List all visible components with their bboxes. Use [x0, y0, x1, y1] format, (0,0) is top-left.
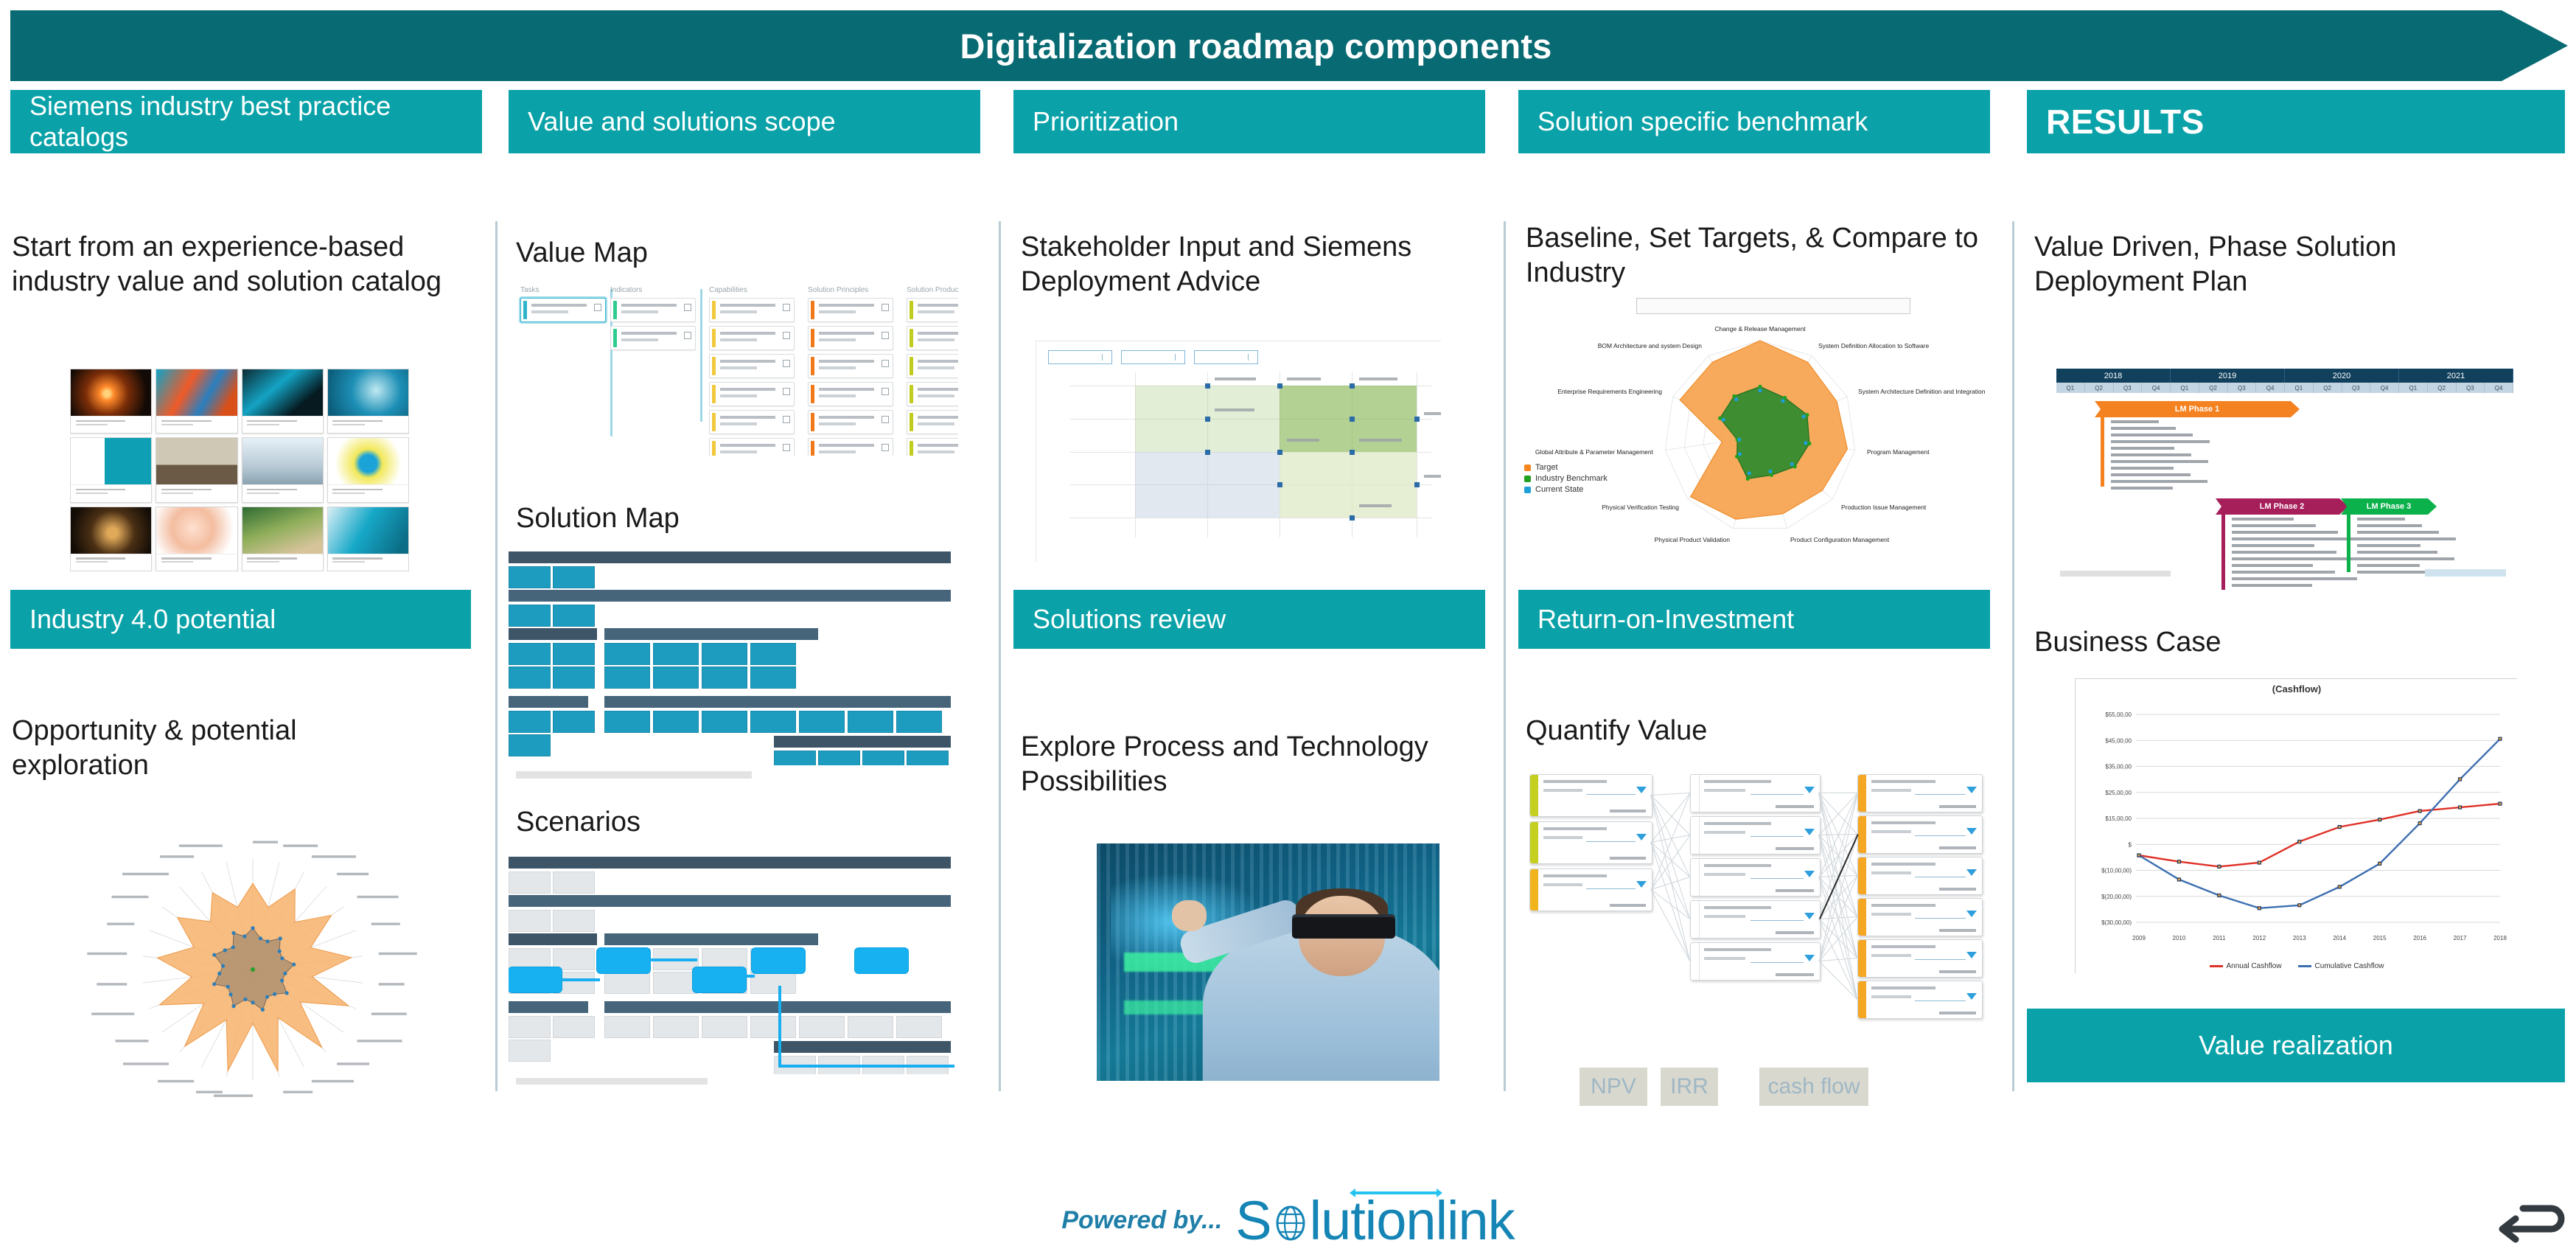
- band-label: Siemens industry best practice catalogs: [29, 91, 463, 153]
- column-divider-1: [495, 221, 498, 1091]
- band-solution-specific-benchmark[interactable]: Solution specific benchmark: [1518, 90, 1990, 153]
- map-group-header: [509, 628, 597, 640]
- timeline-quarter: Q1: [2399, 383, 2428, 393]
- map-tile[interactable]: [604, 643, 650, 665]
- svg-text:2013: 2013: [2293, 935, 2306, 941]
- value-map-divider: [700, 289, 702, 422]
- kpi-cash-flow-tile[interactable]: cash flow: [1759, 1068, 1868, 1106]
- value-map-column[interactable]: Capabilities: [709, 286, 795, 456]
- data-point-label: [1424, 475, 1441, 478]
- legend-label: Current State: [1535, 485, 1583, 494]
- roi-connector: [1651, 793, 1690, 796]
- benchmark-toolbar[interactable]: [1636, 298, 1910, 314]
- timeline-item: [2111, 447, 2174, 450]
- svg-text:2014: 2014: [2333, 935, 2346, 941]
- roi-node[interactable]: [1857, 939, 1983, 978]
- svg-text:2016: 2016: [2413, 935, 2426, 941]
- value-map-board[interactable]: TasksIndicatorsCapabilitiesSolution Prin…: [516, 286, 958, 456]
- timeline-quarter: Q1: [2056, 383, 2085, 393]
- legend-swatch: [2298, 965, 2311, 967]
- svg-text:2017: 2017: [2454, 935, 2467, 941]
- headline-explore-process: Explore Process and Technology Possibili…: [1021, 730, 1463, 799]
- band-label: Solutions review: [1033, 604, 1226, 635]
- roi-value-node-map[interactable]: [1529, 774, 2005, 1062]
- headline-experience-catalog: Start from an experience-based industry …: [12, 230, 454, 299]
- timeline-footnote: [2060, 571, 2171, 577]
- svg-text:2015: 2015: [2373, 935, 2387, 941]
- data-point-label: [1287, 439, 1319, 442]
- map-tile[interactable]: [653, 643, 699, 665]
- svg-text:2009: 2009: [2132, 935, 2146, 941]
- map-connector: [719, 975, 755, 978]
- value-map-column[interactable]: Solution Principles: [808, 286, 893, 456]
- footer-powered-by: Powered by... S lutionlink: [0, 1185, 2576, 1256]
- data-point[interactable]: [1277, 482, 1282, 487]
- band-prioritization[interactable]: Prioritization: [1013, 90, 1485, 153]
- legend-label: Target: [1535, 463, 1558, 472]
- map-tile[interactable]: [509, 734, 551, 756]
- timeline-phase-bar[interactable]: LM Phase 1: [2095, 401, 2300, 417]
- map-tile[interactable]: [750, 972, 796, 994]
- band-return-on-investment[interactable]: Return-on-Investment: [1518, 590, 1990, 649]
- map-group-header: [509, 590, 951, 602]
- map-tile[interactable]: [750, 1016, 796, 1038]
- map-tile[interactable]: [553, 666, 595, 689]
- band-siemens-catalogs[interactable]: Siemens industry best practice catalogs: [10, 90, 482, 153]
- svg-text:2018: 2018: [2493, 935, 2507, 941]
- map-tile[interactable]: [604, 711, 650, 733]
- filter-icon[interactable]: [1966, 952, 1977, 958]
- section-title-business-case: Business Case: [2034, 625, 2403, 660]
- timeline-quarter: Q2: [2428, 383, 2457, 393]
- filter-icon[interactable]: [1804, 955, 1815, 961]
- svg-text:$25,00,00: $25,00,00: [2105, 790, 2132, 796]
- headline-deployment-plan: Value Driven, Phase Solution Deployment …: [2034, 230, 2491, 299]
- timeline-phase-items: [2357, 518, 2457, 577]
- value-map-card[interactable]: [808, 410, 893, 434]
- value-map-card[interactable]: [907, 354, 958, 378]
- section-title-value-map: Value Map: [516, 236, 884, 271]
- timeline-item: [2357, 518, 2405, 521]
- brand-prefix: S: [1235, 1189, 1271, 1252]
- data-point-label: [1215, 408, 1254, 411]
- map-tile[interactable]: [702, 666, 747, 689]
- industry-catalog-thumbnail-grid[interactable]: [70, 369, 409, 571]
- timeline-phase-items: [2111, 420, 2210, 493]
- map-tile[interactable]: [509, 666, 551, 689]
- catalog-card[interactable]: [242, 369, 324, 434]
- roi-node[interactable]: [1529, 821, 1652, 864]
- data-point-label: [1424, 412, 1441, 415]
- map-tile[interactable]: [818, 751, 860, 765]
- catalog-card[interactable]: [327, 437, 409, 502]
- svg-text:Product Configuration Manageme: Product Configuration Management: [1790, 536, 1890, 543]
- legend-label: Industry Benchmark: [1535, 474, 1608, 483]
- timeline-item: [2111, 453, 2191, 456]
- legend-item: Industry Benchmark: [1524, 474, 1608, 483]
- value-map-column-header: Tasks: [520, 286, 606, 294]
- roi-node[interactable]: [1529, 774, 1652, 817]
- catalog-card[interactable]: [327, 369, 409, 434]
- map-tile[interactable]: [553, 566, 595, 588]
- map-tile[interactable]: [896, 1016, 942, 1038]
- map-tile[interactable]: [848, 711, 893, 733]
- timeline-phase-bar[interactable]: LM Phase 2: [2216, 498, 2348, 515]
- roadmap-title-banner: Digitalization roadmap components: [10, 10, 2568, 81]
- timeline-item: [2357, 524, 2422, 527]
- band-label: Solution specific benchmark: [1537, 106, 1868, 137]
- value-map-card[interactable]: [907, 438, 958, 456]
- map-tile[interactable]: [799, 711, 845, 733]
- roi-node[interactable]: [1529, 869, 1652, 911]
- solution-map-diagram[interactable]: [509, 551, 954, 765]
- prioritization-bubble-chart[interactable]: [1036, 341, 1441, 562]
- powered-by-label: Powered by...: [1061, 1206, 1222, 1235]
- map-tile[interactable]: [653, 666, 699, 689]
- map-connector: [778, 986, 781, 1067]
- filter-icon[interactable]: [1636, 834, 1647, 840]
- filter-icon[interactable]: [1966, 911, 1977, 917]
- timeline-year: 2019: [2171, 369, 2285, 383]
- value-map-card[interactable]: [907, 382, 958, 406]
- map-tile[interactable]: [750, 643, 796, 665]
- map-tile[interactable]: [509, 910, 551, 932]
- filter-icon[interactable]: [1804, 787, 1815, 793]
- timeline-item: [2357, 537, 2456, 540]
- band-solutions-review[interactable]: Solutions review: [1013, 590, 1485, 649]
- svg-text:BOM Architecture and system De: BOM Architecture and system Design: [1598, 342, 1703, 349]
- chevron-down-icon: [1175, 354, 1182, 361]
- quadrant-region: [1280, 452, 1417, 518]
- map-tile[interactable]: [896, 711, 942, 733]
- headline-quantify-value: Quantify Value: [1526, 714, 1894, 748]
- filter-icon[interactable]: [1804, 913, 1815, 919]
- value-map-card[interactable]: [709, 354, 795, 378]
- timeline-item: [2357, 551, 2437, 554]
- data-point-label: [1359, 377, 1397, 380]
- filter-icon[interactable]: [1966, 993, 1977, 1000]
- value-map-card[interactable]: [709, 326, 795, 350]
- timeline-item: [2357, 564, 2420, 567]
- map-tile[interactable]: [702, 1016, 747, 1038]
- map-group-header: [604, 1001, 951, 1013]
- data-point[interactable]: [1350, 417, 1355, 422]
- svg-text:$(20,00,00): $(20,00,00): [2101, 894, 2132, 900]
- data-point[interactable]: [1277, 450, 1282, 455]
- timeline-item: [2232, 531, 2338, 534]
- band-value-solutions-scope[interactable]: Value and solutions scope: [509, 90, 980, 153]
- headline-stakeholder-input: Stakeholder Input and Siemens Deployment…: [1021, 230, 1478, 299]
- value-map-column-header: Indicators: [610, 286, 696, 294]
- timeline-year: 2018: [2056, 369, 2171, 383]
- timeline-quarter: Q4: [2370, 383, 2399, 393]
- scenarios-diagram[interactable]: [509, 857, 954, 1074]
- catalog-card[interactable]: [156, 437, 237, 502]
- timeline-item: [2357, 544, 2420, 547]
- svg-text:System Definition Allocation t: System Definition Allocation to Software: [1818, 342, 1930, 349]
- value-map-card[interactable]: [520, 298, 606, 322]
- highlighted-map-tile[interactable]: [693, 967, 746, 992]
- timeline-quarter: Q3: [2457, 383, 2485, 393]
- band-label: Industry 4.0 potential: [29, 604, 276, 635]
- map-tile[interactable]: [509, 1016, 551, 1038]
- quadrant-region: [1280, 386, 1417, 452]
- section-title-scenarios: Scenarios: [516, 805, 884, 840]
- map-tile[interactable]: [604, 666, 650, 689]
- map-group-header: [509, 551, 951, 563]
- value-map-column[interactable]: Tasks: [520, 286, 606, 456]
- filter-icon[interactable]: [1966, 828, 1977, 835]
- data-point-label: [1287, 377, 1321, 380]
- map-tile[interactable]: [653, 1016, 699, 1038]
- band-label: RESULTS: [2046, 102, 2205, 142]
- catalog-card[interactable]: [156, 507, 237, 571]
- timeline-item: [2111, 480, 2207, 483]
- phased-deployment-timeline[interactable]: 2018201920202021Q1Q2Q3Q4Q1Q2Q3Q4Q1Q2Q3Q4…: [2056, 369, 2513, 590]
- filter-dropdown[interactable]: [1194, 350, 1258, 364]
- map-group-header: [774, 1041, 951, 1053]
- svg-text:$15,00,00: $15,00,00: [2105, 815, 2132, 822]
- timeline-item: [2111, 440, 2210, 443]
- value-map-card[interactable]: [907, 410, 958, 434]
- map-tile[interactable]: [848, 1016, 893, 1038]
- highlighted-map-tile[interactable]: [855, 948, 908, 973]
- timeline-item: [2357, 531, 2439, 534]
- svg-text:Change & Release Management: Change & Release Management: [1714, 325, 1806, 333]
- data-point[interactable]: [1205, 417, 1210, 422]
- timeline-item: [2232, 544, 2314, 547]
- highlighted-map-tile[interactable]: [597, 948, 650, 973]
- timeline-phase-bar[interactable]: LM Phase 3: [2341, 498, 2437, 515]
- timeline-brand-mark: [2425, 569, 2506, 577]
- timeline-item: [2232, 551, 2336, 554]
- map-tile[interactable]: [553, 643, 595, 665]
- map-tile[interactable]: [604, 1016, 650, 1038]
- cashflow-chart: (Cashflow) $55,00,00$45,00,00$35,00,00$2…: [2075, 678, 2517, 973]
- timeline-phase-items: [2232, 518, 2361, 590]
- value-map-card[interactable]: [709, 410, 795, 434]
- roi-node[interactable]: [1690, 816, 1821, 854]
- cta-label: Value realization: [2199, 1030, 2393, 1061]
- map-tile[interactable]: [509, 566, 551, 588]
- data-point-label: [1359, 439, 1402, 442]
- roi-node[interactable]: [1690, 942, 1821, 981]
- catalog-card[interactable]: [156, 369, 237, 434]
- column-divider-3: [1504, 221, 1506, 1091]
- map-tile[interactable]: [509, 1040, 551, 1062]
- solutionlink-logo: S lutionlink: [1235, 1189, 1514, 1252]
- benchmark-radar-chart: Change & Release ManagementSystem Defini…: [1517, 319, 2003, 562]
- svg-text:2011: 2011: [2213, 935, 2226, 941]
- solution-map-caption: [516, 771, 752, 779]
- data-point[interactable]: [1205, 450, 1210, 455]
- roi-connector: [1819, 793, 1857, 793]
- value-map-card[interactable]: [709, 298, 795, 322]
- map-tile[interactable]: [750, 666, 796, 689]
- filter-icon[interactable]: [1636, 881, 1647, 888]
- value-map-card[interactable]: [610, 298, 696, 322]
- svg-text:2012: 2012: [2252, 935, 2266, 941]
- map-group-header: [509, 1001, 588, 1013]
- map-group-header: [509, 895, 951, 907]
- cta-value-realization[interactable]: Value realization: [2027, 1009, 2565, 1082]
- data-point-label: [1215, 377, 1256, 380]
- link-measure-icon: [1348, 1186, 1444, 1200]
- map-tile[interactable]: [907, 751, 949, 765]
- map-tile[interactable]: [750, 711, 796, 733]
- value-map-card[interactable]: [808, 382, 893, 406]
- filter-icon[interactable]: [1636, 787, 1647, 793]
- map-group-header: [509, 696, 588, 708]
- map-tile[interactable]: [702, 711, 747, 733]
- data-point[interactable]: [1414, 417, 1420, 422]
- timeline-quarter: Q1: [2285, 383, 2314, 393]
- timeline-item: [2111, 460, 2208, 463]
- map-group-header: [774, 736, 951, 748]
- timeline-item: [2111, 473, 2191, 476]
- timeline-quarter: Q3: [2342, 383, 2371, 393]
- filter-icon[interactable]: [1804, 871, 1815, 877]
- timeline-quarter: Q4: [2256, 383, 2285, 393]
- column-divider-4: [2012, 221, 2014, 1091]
- timeline-quarter: Q2: [2199, 383, 2228, 393]
- data-point[interactable]: [1350, 450, 1355, 455]
- catalog-card[interactable]: [242, 507, 324, 571]
- svg-text:$35,00,00: $35,00,00: [2105, 764, 2132, 770]
- timeline-item: [2357, 557, 2454, 560]
- value-map-card[interactable]: [808, 354, 893, 378]
- value-map-column-header: Solution Product Functionality: [907, 286, 958, 294]
- band-results[interactable]: RESULTS: [2027, 90, 2565, 153]
- legend-swatch: [1524, 476, 1531, 482]
- timeline-phase-spine: [2221, 515, 2225, 590]
- data-point-label: [1359, 504, 1392, 507]
- timeline-quarter-row: Q1Q2Q3Q4Q1Q2Q3Q4Q1Q2Q3Q4Q1Q2Q3Q4: [2056, 383, 2513, 393]
- timeline-item: [2232, 564, 2313, 567]
- timeline-item: [2232, 524, 2316, 527]
- legend-item: Target: [1524, 463, 1608, 472]
- globe-icon: [1270, 1198, 1311, 1242]
- map-tile[interactable]: [553, 871, 595, 894]
- value-map-card[interactable]: [907, 298, 958, 322]
- map-tile[interactable]: [509, 605, 551, 627]
- data-point[interactable]: [1414, 482, 1420, 487]
- value-map-card[interactable]: [907, 326, 958, 350]
- kpi-npv-tile[interactable]: NPV: [1580, 1068, 1647, 1106]
- roi-node[interactable]: [1857, 898, 1983, 936]
- value-map-card[interactable]: [709, 382, 795, 406]
- section-title-solution-map: Solution Map: [516, 501, 884, 536]
- value-map-card[interactable]: [709, 438, 795, 456]
- highlighted-map-tile[interactable]: [509, 967, 562, 992]
- data-point[interactable]: [1277, 383, 1282, 389]
- map-tile[interactable]: [604, 972, 650, 994]
- timeline-item: [2111, 487, 2173, 490]
- catalog-card[interactable]: [70, 369, 152, 434]
- catalog-card[interactable]: [327, 507, 409, 571]
- svg-text:2010: 2010: [2173, 935, 2186, 941]
- map-tile[interactable]: [799, 1016, 845, 1038]
- map-tile[interactable]: [553, 1016, 595, 1038]
- roi-node[interactable]: [1690, 900, 1821, 939]
- timeline-item: [2232, 577, 2357, 580]
- timeline-phase-spine: [2101, 417, 2104, 487]
- roi-node[interactable]: [1857, 815, 1983, 854]
- column-divider-2: [999, 221, 1001, 1091]
- map-group-header: [604, 933, 818, 945]
- filter-dropdown[interactable]: [1048, 350, 1112, 364]
- band-label: Return-on-Investment: [1537, 604, 1794, 635]
- map-tile[interactable]: [509, 871, 551, 894]
- page-title: Digitalization roadmap components: [10, 10, 2502, 81]
- value-map-column[interactable]: Solution Product Functionality: [907, 286, 958, 456]
- roi-node[interactable]: [1690, 774, 1821, 812]
- legend-item: Cumulative Cashflow: [2298, 962, 2384, 970]
- svg-text:$(10,00,00): $(10,00,00): [2101, 868, 2132, 874]
- headline-opportunity-exploration: Opportunity & potential exploration: [12, 714, 425, 783]
- map-tile[interactable]: [553, 711, 595, 733]
- scenarios-caption: [516, 1078, 708, 1085]
- timeline-item: [2111, 467, 2174, 470]
- band-industry-40-potential[interactable]: Industry 4.0 potential: [10, 590, 471, 649]
- filter-icon[interactable]: [1966, 787, 1977, 793]
- value-map-column[interactable]: Indicators: [610, 286, 696, 456]
- value-map-card[interactable]: [808, 326, 893, 350]
- map-tile[interactable]: [553, 605, 595, 627]
- data-point[interactable]: [1350, 515, 1355, 521]
- data-point[interactable]: [1205, 383, 1210, 389]
- map-tile[interactable]: [702, 643, 747, 665]
- timeline-quarter: Q2: [2085, 383, 2114, 393]
- map-tile[interactable]: [553, 910, 595, 932]
- band-label: Value and solutions scope: [528, 106, 836, 137]
- timeline-quarter: Q4: [2485, 383, 2513, 393]
- map-tile[interactable]: [653, 711, 699, 733]
- map-tile[interactable]: [653, 972, 699, 994]
- map-tile[interactable]: [774, 751, 816, 765]
- map-tile[interactable]: [862, 751, 904, 765]
- map-tile[interactable]: [509, 711, 551, 733]
- map-tile[interactable]: [509, 643, 551, 665]
- roi-node[interactable]: [1857, 774, 1983, 812]
- filter-dropdown[interactable]: [1121, 350, 1185, 364]
- highlighted-map-tile[interactable]: [752, 948, 805, 973]
- map-group-header: [604, 696, 951, 708]
- gridline: [1417, 372, 1417, 537]
- catalog-card[interactable]: [70, 437, 152, 502]
- chart-filter-row[interactable]: [1048, 350, 1430, 363]
- value-map-card[interactable]: [808, 298, 893, 322]
- roi-node[interactable]: [1857, 857, 1983, 895]
- value-map-card[interactable]: [808, 438, 893, 456]
- timeline-item: [2232, 571, 2335, 574]
- roi-node[interactable]: [1690, 858, 1821, 897]
- roi-node[interactable]: [1857, 981, 1983, 1019]
- value-map-card[interactable]: [610, 326, 696, 350]
- catalog-card[interactable]: [70, 507, 152, 571]
- svg-text:Program Management: Program Management: [1867, 448, 1930, 456]
- filter-icon[interactable]: [1804, 829, 1815, 835]
- chevron-down-icon: [1102, 354, 1109, 361]
- kpi-irr-tile[interactable]: IRR: [1661, 1068, 1718, 1106]
- data-point[interactable]: [1350, 383, 1355, 389]
- timeline-item: [2111, 420, 2159, 423]
- filter-icon[interactable]: [1966, 869, 1977, 876]
- map-connector: [646, 958, 697, 961]
- catalog-card[interactable]: [242, 437, 324, 502]
- svg-text:Production Issue Management: Production Issue Management: [1841, 504, 1927, 511]
- svg-text:Global Attribute & Parameter M: Global Attribute & Parameter Management: [1535, 448, 1654, 456]
